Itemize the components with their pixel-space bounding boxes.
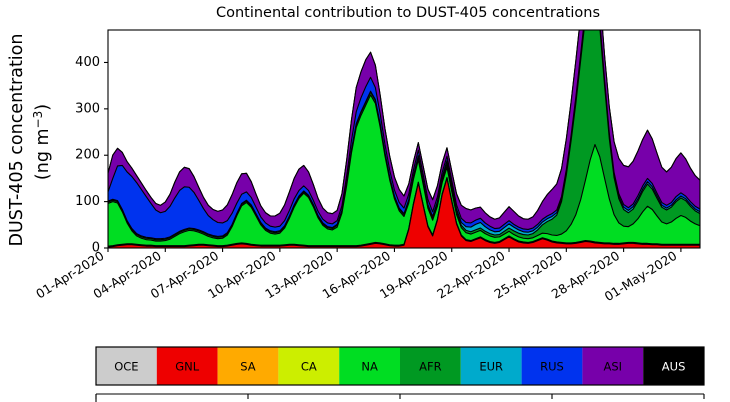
legend-label-asi: ASI	[604, 360, 623, 374]
y-tick-label: 200	[75, 148, 100, 163]
legend-label-na: NA	[361, 360, 378, 374]
y-axis-paren-close: )	[33, 104, 53, 111]
legend-label-eur: EUR	[479, 360, 503, 374]
y-tick-label: 400	[75, 55, 100, 70]
page-title: Continental contribution to DUST-405 con…	[216, 5, 600, 21]
y-axis-label-line1: DUST-405 concentration	[7, 34, 27, 247]
legend-label-aus: AUS	[662, 360, 686, 374]
y-axis-exponent: −3	[31, 111, 45, 129]
y-tick-label: 100	[75, 194, 100, 209]
legend-label-gnl: GNL	[175, 360, 200, 374]
legend: OCEGNLSACANAAFREURRUSASIAUS	[96, 347, 704, 385]
y-axis-units: (ng m	[33, 128, 53, 180]
stacked-area-figure: Continental contribution to DUST-405 con…	[0, 0, 730, 402]
legend-label-afr: AFR	[419, 360, 441, 374]
legend-label-ca: CA	[301, 360, 317, 374]
y-tick-label: 300	[75, 101, 100, 116]
legend-label-rus: RUS	[540, 360, 564, 374]
legend-label-oce: OCE	[114, 360, 138, 374]
legend-label-sa: SA	[240, 360, 256, 374]
chart-page: Continental contribution to DUST-405 con…	[0, 0, 730, 402]
